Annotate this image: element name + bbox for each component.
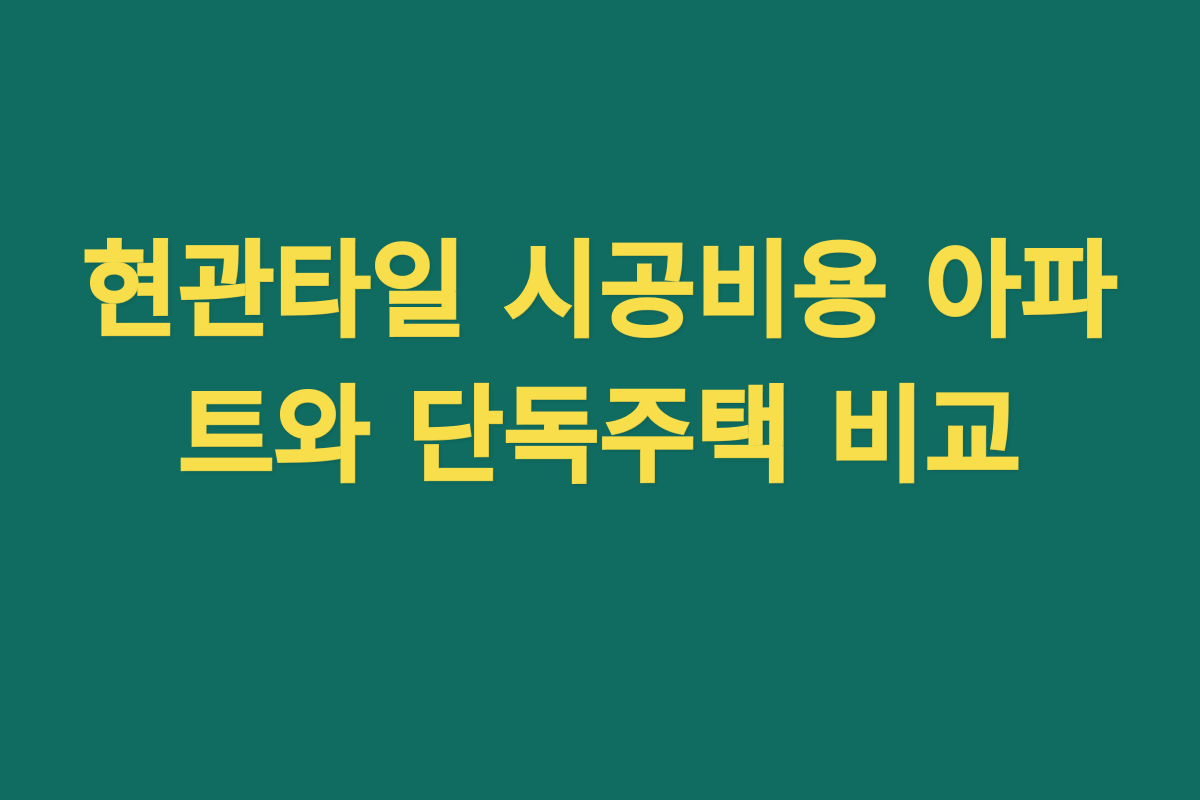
title-line-1: 현관타일 시공비용 아파 xyxy=(70,222,1130,361)
thumbnail-card: 현관타일 시공비용 아파 트와 단독주택 비교 xyxy=(0,0,1200,800)
title-line-2: 트와 단독주택 비교 xyxy=(70,367,1130,506)
page-title: 현관타일 시공비용 아파 트와 단독주택 비교 xyxy=(70,222,1130,507)
